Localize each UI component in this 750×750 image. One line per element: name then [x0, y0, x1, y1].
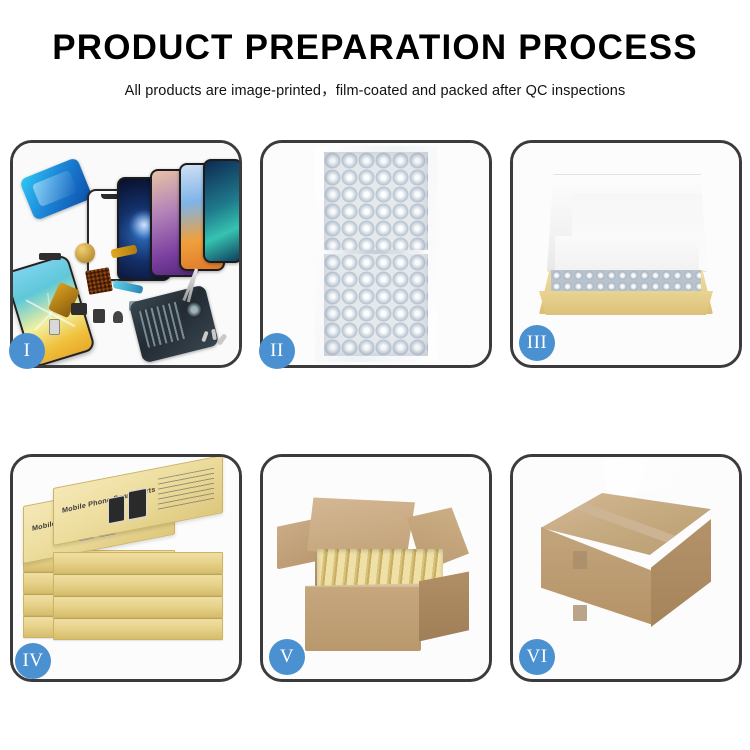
- small-part-1-icon: [71, 303, 87, 315]
- battery-connector-icon: [49, 319, 60, 335]
- phone-screen-fan: [87, 159, 237, 279]
- step-panel-4: Mobile Phone Spare Parts Mobile Phone Sp…: [10, 454, 242, 682]
- sealed-shipping-carton: [531, 493, 721, 643]
- small-part-3-icon: [113, 311, 123, 323]
- speaker-mesh-icon: [39, 253, 61, 260]
- carton-seam-bottom-icon: [573, 605, 587, 621]
- open-inner-box: [533, 174, 719, 334]
- header: PRODUCT PREPARATION PROCESS All products…: [0, 0, 750, 100]
- step-4-image: Mobile Phone Spare Parts Mobile Phone Sp…: [13, 457, 239, 679]
- carton-side-panel-icon: [419, 571, 469, 641]
- process-steps-grid: I II: [10, 140, 740, 682]
- bubble-wrapped-contents-icon: [551, 270, 701, 292]
- step-badge-3: III: [519, 325, 555, 361]
- open-shipping-carton: [281, 491, 471, 653]
- step-badge-5: V: [269, 639, 305, 675]
- step-panel-6: VI: [510, 454, 742, 682]
- step-panel-2: II: [260, 140, 492, 368]
- page-title: PRODUCT PREPARATION PROCESS: [0, 30, 750, 67]
- retail-box-lid: Mobile Phone Spare Parts: [53, 457, 223, 546]
- camera-lens-icon: [75, 243, 95, 263]
- stacked-retail-boxes: Mobile Phone Spare Parts Mobile Phone Sp…: [23, 470, 229, 666]
- step-panel-3: III: [510, 140, 742, 368]
- product-preparation-infographic: PRODUCT PREPARATION PROCESS All products…: [0, 0, 750, 750]
- step-badge-1: I: [9, 333, 45, 369]
- bubble-wrap-package: [324, 152, 428, 356]
- step-panel-5: V: [260, 454, 492, 682]
- small-part-2-icon: [93, 309, 105, 323]
- carton-front-panel-icon: [305, 587, 421, 651]
- step-panel-1: I: [10, 140, 242, 368]
- step-2-image: [263, 143, 489, 365]
- carton-seam-top-icon: [573, 551, 587, 569]
- step-badge-6: VI: [519, 639, 555, 675]
- page-subtitle: All products are image-printed，film-coat…: [0, 79, 750, 100]
- step-1-image: [13, 143, 239, 365]
- box-front-panel-icon: [539, 291, 713, 315]
- box-stack-right: Mobile Phone Spare Parts: [53, 488, 221, 640]
- step-badge-4: IV: [15, 643, 51, 679]
- screws-icon: [203, 329, 229, 347]
- tweezers-icon: [189, 269, 229, 309]
- logic-chip-icon: [85, 267, 113, 295]
- step-badge-2: II: [259, 333, 295, 369]
